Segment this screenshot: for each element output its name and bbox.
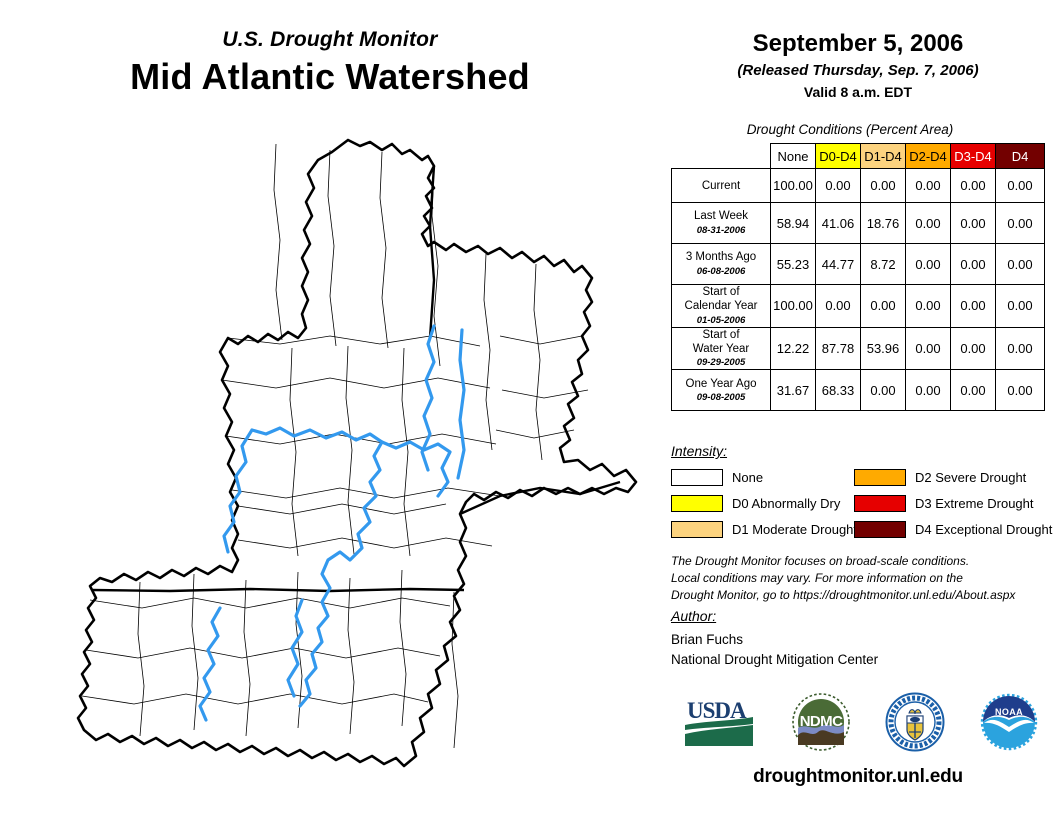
cell-current-d1d4: 0.00 [861,169,906,203]
map-basin-fill [78,140,636,766]
cell-current-d0d4: 0.00 [816,169,861,203]
intensity-legend-left-column: None D0 Abnormally Dry D1 Moderate Droug… [671,466,854,544]
row-label-date: 09-29-2005 [672,357,770,369]
site-url[interactable]: droughtmonitor.unl.edu [660,766,1056,788]
cell-oneyear-d0d4: 68.33 [816,370,861,411]
cell-3months-d0d4: 44.77 [816,244,861,285]
cell-oneyear-d1d4: 0.00 [861,370,906,411]
row-label-date: 09-08-2005 [672,392,770,404]
disclaimer-text: The Drought Monitor focuses on broad-sca… [671,553,1051,604]
column-header-d4: D4 [996,144,1045,169]
swatch-d4 [854,521,906,538]
cell-calyear-none: 100.00 [771,285,816,328]
drought-conditions-table: None D0-D4 D1-D4 D2-D4 D3-D4 D4 Current … [671,143,1045,411]
cell-oneyear-d2d4: 0.00 [906,370,951,411]
commerce-seal [885,692,945,757]
info-panel: September 5, 2006 (Released Thursday, Se… [660,0,1056,816]
map-title-group: U.S. Drought Monitor Mid Atlantic Waters… [0,28,660,98]
column-header-d3d4: D3-D4 [951,144,996,169]
page-title: Mid Atlantic Watershed [0,56,660,98]
legend-item-d0: D0 Abnormally Dry [671,492,854,515]
legend-item-none: None [671,466,854,489]
cell-3months-d1d4: 8.72 [861,244,906,285]
valid-date: September 5, 2006 [660,30,1056,58]
cell-wateryear-d0d4: 87.78 [816,327,861,370]
cell-lastweek-d3d4: 0.00 [951,203,996,244]
row-label-text: One Year Ago [686,378,757,390]
cell-lastweek-d1d4: 18.76 [861,203,906,244]
legend-item-d3: D3 Extreme Drought [854,492,1037,515]
cell-lastweek-d2d4: 0.00 [906,203,951,244]
row-label-date: 08-31-2006 [672,225,770,237]
swatch-none [671,469,723,486]
valid-time: Valid 8 a.m. EDT [660,84,1056,100]
cell-3months-d4: 0.00 [996,244,1045,285]
swatch-d2 [854,469,906,486]
cell-wateryear-d4: 0.00 [996,327,1045,370]
date-block: September 5, 2006 (Released Thursday, Se… [660,30,1056,100]
cell-calyear-d4: 0.00 [996,285,1045,328]
release-date: (Released Thursday, Sep. 7, 2006) [660,62,1056,79]
row-label-start-calendar-year: Start of Calendar Year 01-05-2006 [672,285,771,328]
disclaimer-line-1: The Drought Monitor focuses on broad-sca… [671,553,1051,570]
cell-3months-d2d4: 0.00 [906,244,951,285]
legend-item-d2: D2 Severe Drought [854,466,1037,489]
cell-3months-d3d4: 0.00 [951,244,996,285]
swatch-d3 [854,495,906,512]
cell-current-d3d4: 0.00 [951,169,996,203]
svg-text:NDMC: NDMC [800,713,843,730]
intensity-legend: Intensity: None D0 Abnormally Dry D1 Mod… [671,443,1056,544]
author-title: Author: [671,608,1051,624]
table-row: Start of Calendar Year 01-05-2006 100.00… [672,285,1045,328]
row-label-one-year-ago: One Year Ago 09-08-2005 [672,370,771,411]
cell-wateryear-d3d4: 0.00 [951,327,996,370]
table-header-row: None D0-D4 D1-D4 D2-D4 D3-D4 D4 [672,144,1045,169]
cell-calyear-d2d4: 0.00 [906,285,951,328]
ndmc-logo: NDMC [791,692,851,757]
cell-current-d4: 0.00 [996,169,1045,203]
disclaimer-line-3[interactable]: Drought Monitor, go to https://droughtmo… [671,587,1051,604]
row-label-last-week: Last Week 08-31-2006 [672,203,771,244]
table-row: One Year Ago 09-08-2005 31.67 68.33 0.00… [672,370,1045,411]
cell-oneyear-none: 31.67 [771,370,816,411]
cell-lastweek-d4: 0.00 [996,203,1045,244]
legend-item-d4: D4 Exceptional Drought [854,518,1037,541]
cell-current-d2d4: 0.00 [906,169,951,203]
table-row: Current 100.00 0.00 0.00 0.00 0.00 0.00 [672,169,1045,203]
swatch-d0 [671,495,723,512]
row-label-text: Current [702,180,740,192]
watershed-outline [78,140,636,766]
author-affiliation: National Drought Mitigation Center [671,650,1051,670]
cell-calyear-d0d4: 0.00 [816,285,861,328]
row-label-text: Start of Water Year [693,329,749,355]
author-name: Brian Fuchs [671,630,1051,650]
column-header-d0d4: D0-D4 [816,144,861,169]
drought-map[interactable] [30,130,650,800]
legend-label-d0: D0 Abnormally Dry [732,496,840,511]
agency-logos: USDA NDMC [666,688,1056,760]
author-block: Author: Brian Fuchs National Drought Mit… [671,608,1051,671]
swatch-d1 [671,521,723,538]
row-label-current: Current [672,169,771,203]
map-panel: U.S. Drought Monitor Mid Atlantic Waters… [0,0,660,816]
column-header-d1d4: D1-D4 [861,144,906,169]
row-label-start-water-year: Start of Water Year 09-29-2005 [672,327,771,370]
cell-3months-none: 55.23 [771,244,816,285]
table-row: 3 Months Ago 06-08-2006 55.23 44.77 8.72… [672,244,1045,285]
intensity-legend-right-column: D2 Severe Drought D3 Extreme Drought D4 … [854,466,1037,544]
cell-wateryear-none: 12.22 [771,327,816,370]
disclaimer-line-2: Local conditions may vary. For more info… [671,570,1051,587]
row-label-text: 3 Months Ago [686,251,756,263]
cell-lastweek-d0d4: 41.06 [816,203,861,244]
noaa-logo: NOAA [979,692,1039,757]
usda-logo: USDA [683,694,757,755]
cell-oneyear-d4: 0.00 [996,370,1045,411]
intensity-legend-title: Intensity: [671,443,1056,459]
cell-current-none: 100.00 [771,169,816,203]
column-header-d2d4: D2-D4 [906,144,951,169]
legend-label-d4: D4 Exceptional Drought [915,522,1052,537]
cell-calyear-d3d4: 0.00 [951,285,996,328]
table-corner-cell [672,144,771,169]
legend-item-d1: D1 Moderate Drought [671,518,854,541]
table-row: Start of Water Year 09-29-2005 12.22 87.… [672,327,1045,370]
legend-label-d2: D2 Severe Drought [915,470,1026,485]
row-label-text: Start of Calendar Year [685,286,758,312]
cell-wateryear-d2d4: 0.00 [906,327,951,370]
legend-label-d3: D3 Extreme Drought [915,496,1034,511]
column-header-none: None [771,144,816,169]
cell-lastweek-none: 58.94 [771,203,816,244]
row-label-text: Last Week [694,210,748,222]
row-label-date: 06-08-2006 [672,266,770,278]
row-label-3-months-ago: 3 Months Ago 06-08-2006 [672,244,771,285]
table-caption: Drought Conditions (Percent Area) [660,122,1040,137]
svg-text:NOAA: NOAA [995,707,1023,717]
cell-calyear-d1d4: 0.00 [861,285,906,328]
table-row: Last Week 08-31-2006 58.94 41.06 18.76 0… [672,203,1045,244]
cell-oneyear-d3d4: 0.00 [951,370,996,411]
legend-label-d1: D1 Moderate Drought [732,522,857,537]
program-title: U.S. Drought Monitor [0,28,660,52]
cell-wateryear-d1d4: 53.96 [861,327,906,370]
legend-label-none: None [732,470,763,485]
row-label-date: 01-05-2006 [672,315,770,327]
